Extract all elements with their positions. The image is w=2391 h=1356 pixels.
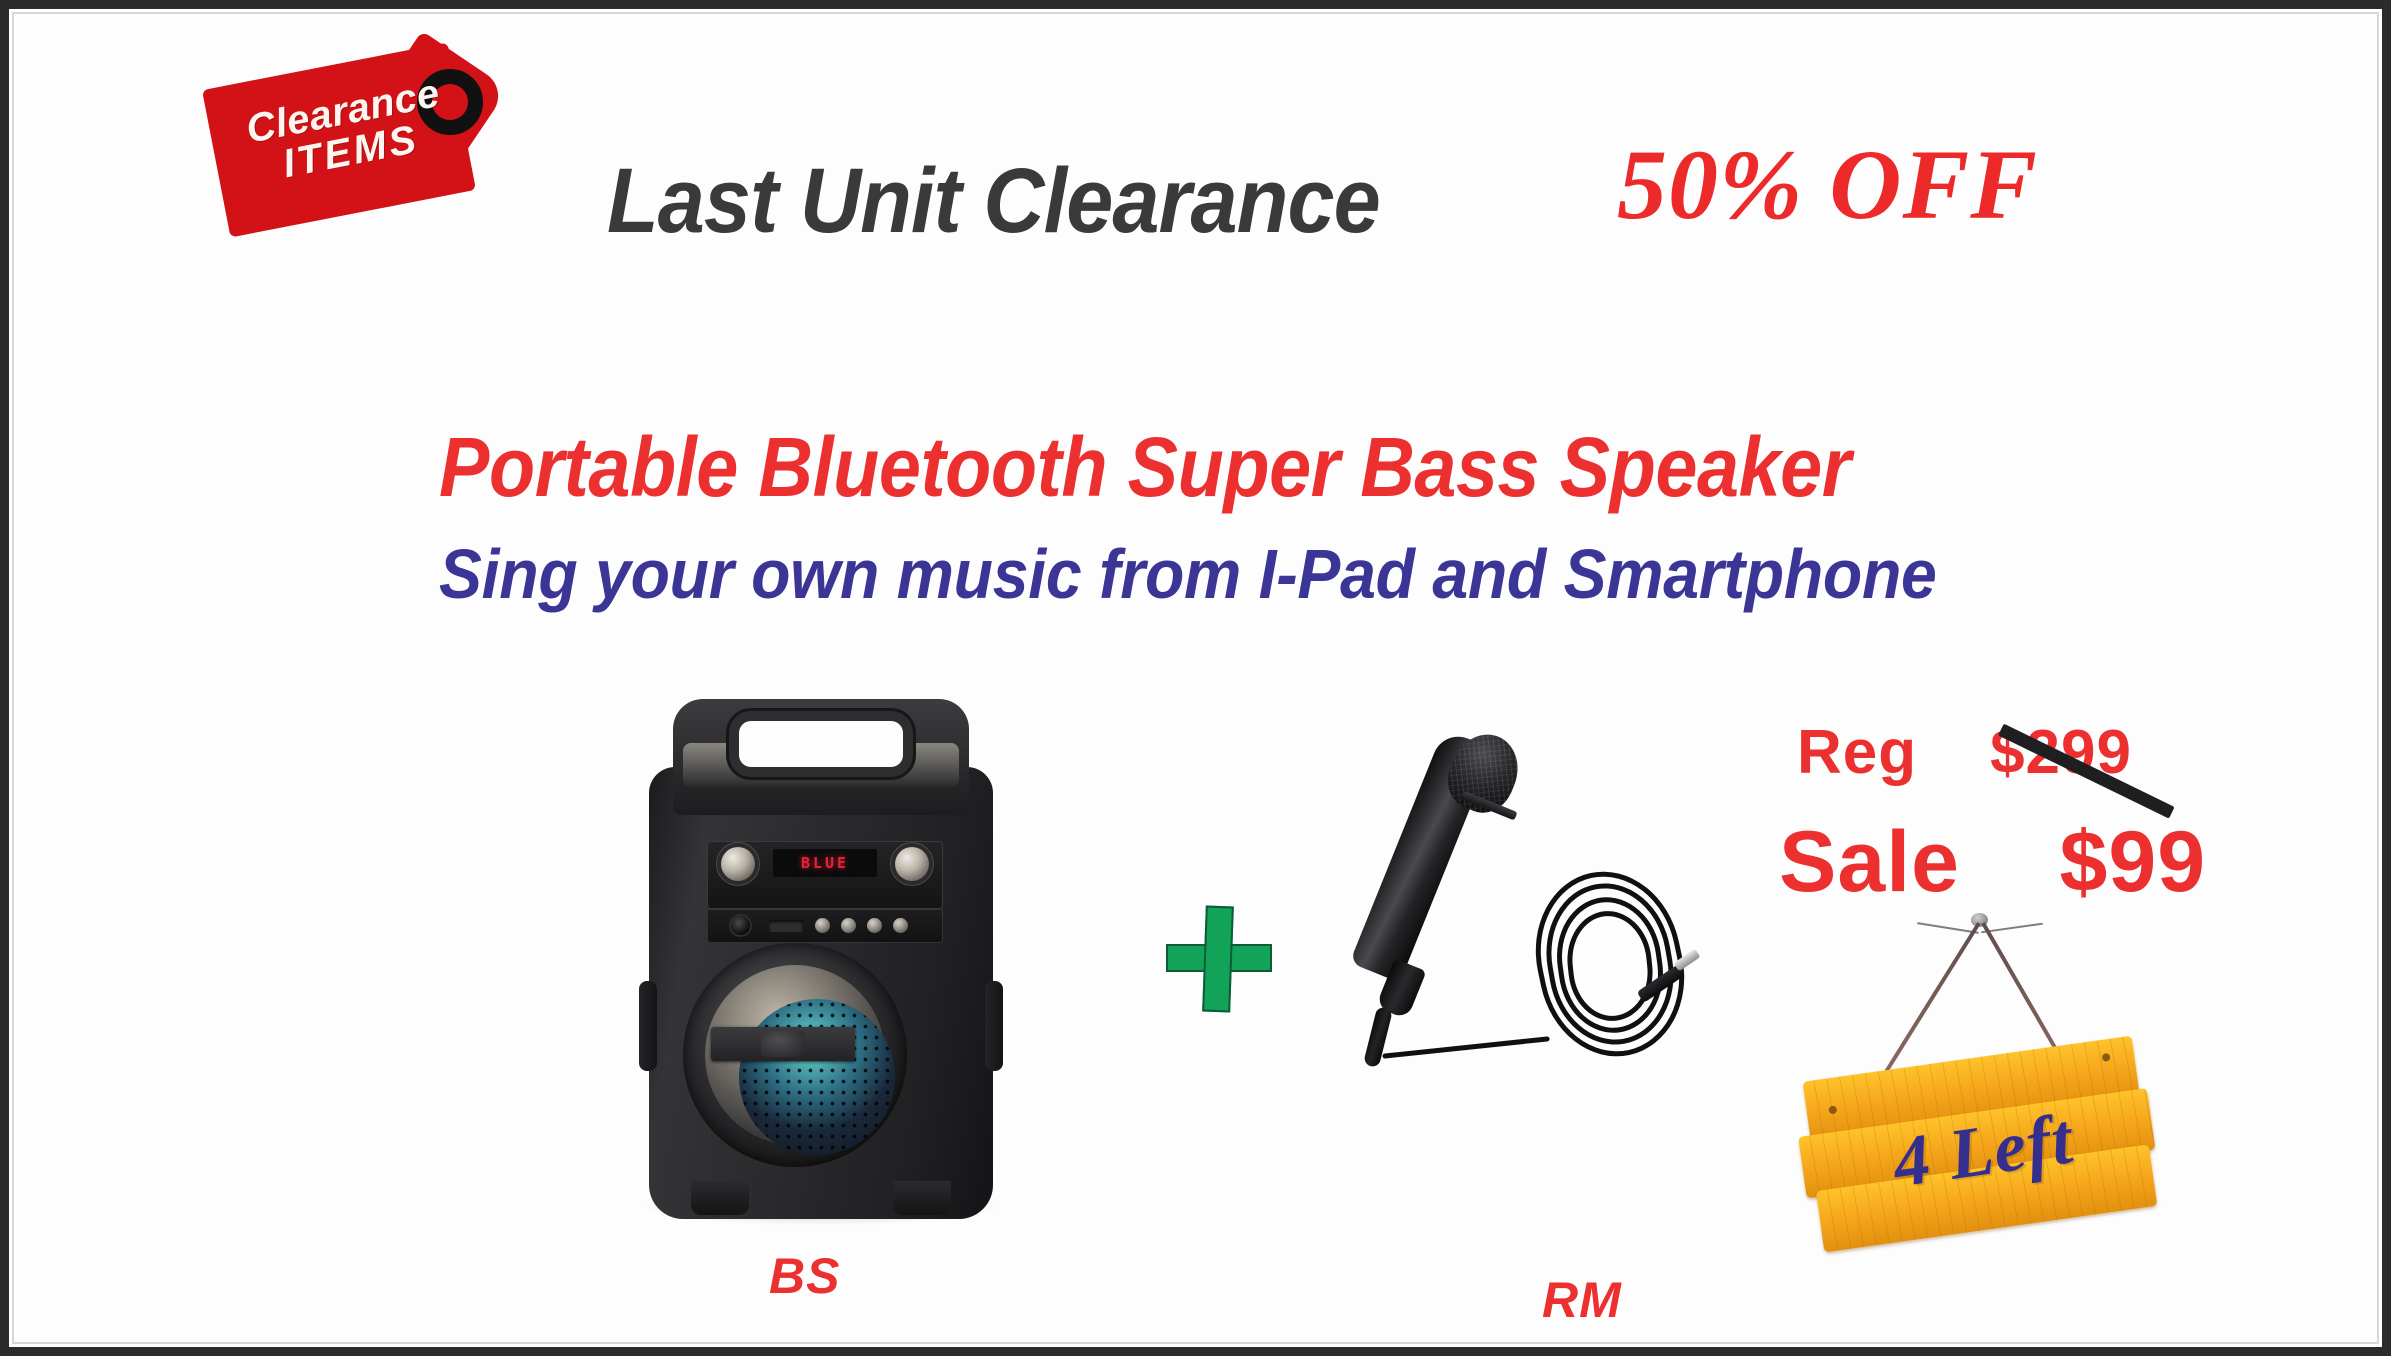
play-pause-button[interactable] (867, 918, 882, 933)
headline: Last Unit Clearance (607, 149, 1380, 254)
speaker-side-grip-right (985, 981, 1003, 1071)
sale-price-value: $99 (2060, 814, 2207, 910)
sale-price-row: Sale $99 (1779, 813, 2206, 912)
woofer-ring (705, 965, 885, 1145)
mic-cable-coil (1532, 867, 1682, 1057)
bluetooth-speaker-icon: BLUE (621, 681, 1021, 1241)
volume-knob[interactable] (721, 847, 755, 881)
woofer-honeycomb-pattern (739, 999, 895, 1155)
regular-price-label: Reg (1797, 718, 1917, 787)
speaker-foot-right (893, 1181, 951, 1215)
speaker-button-row (707, 909, 943, 943)
led-display-text: BLUE (801, 854, 849, 872)
woofer-mesh-grille (739, 999, 895, 1155)
clearance-advertisement: Clearance ITEMS Last Unit Clearance 50% … (0, 0, 2391, 1356)
clearance-tag-icon: Clearance ITEMS (214, 47, 509, 227)
mic-cable-strain-relief (1363, 1006, 1393, 1068)
speaker-control-panel: BLUE (707, 841, 943, 909)
mic-cable-lead (1382, 1036, 1550, 1059)
regular-price-row: Reg $299 (1797, 717, 2132, 788)
speaker-label: BS (769, 1247, 840, 1305)
microphone-label: RM (1542, 1271, 1622, 1329)
hanging-wood-sign-icon: 4 Left (1799, 907, 2219, 1277)
sign-planks: 4 Left (1788, 1020, 2215, 1294)
tuning-knob[interactable] (895, 847, 929, 881)
sale-price-label: Sale (1779, 814, 1960, 910)
mic-input-jack (731, 916, 750, 935)
speaker-woofer (683, 943, 907, 1167)
discount-badge: 50% OFF (1617, 127, 2038, 242)
product-subtitle: Sing your own music from I-Pad and Smart… (439, 534, 1937, 614)
pricing-block: Reg $299 Sale $99 (1779, 717, 2339, 907)
mode-button[interactable] (815, 918, 830, 933)
plus-icon (1164, 904, 1274, 1014)
ad-canvas: Clearance ITEMS Last Unit Clearance 50% … (9, 9, 2382, 1347)
microphone-icon (1364, 727, 1724, 1067)
product-title: Portable Bluetooth Super Bass Speaker (439, 419, 1851, 516)
previous-button[interactable] (841, 918, 856, 933)
usb-slot (769, 920, 803, 932)
woofer-dust-cap (761, 1031, 805, 1057)
speaker-side-grip-left (639, 981, 657, 1071)
speaker-foot-left (691, 1181, 749, 1215)
next-button[interactable] (893, 918, 908, 933)
tag-ring-icon (417, 69, 483, 135)
speaker-carry-handle (739, 721, 903, 767)
led-display: BLUE (773, 849, 877, 877)
plus-vertical-bar (1202, 906, 1234, 1013)
